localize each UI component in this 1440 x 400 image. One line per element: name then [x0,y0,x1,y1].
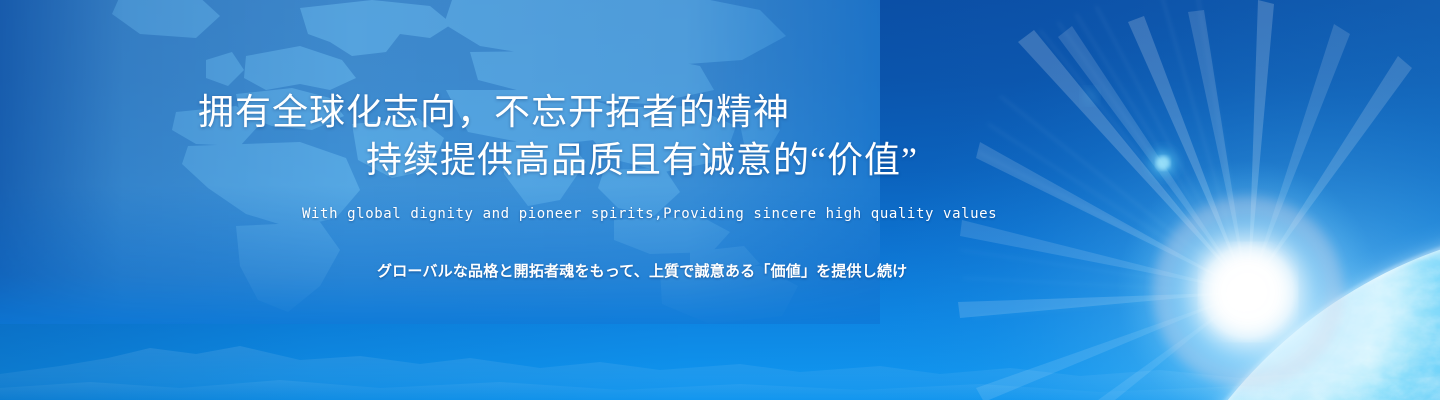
lens-ghost-orb [1145,145,1181,181]
banner-copy: 拥有全球化志向，不忘开拓者的精神 持续提供高品质且有诚意的“价值” With g… [0,0,1100,400]
dotted-world-map [0,0,880,324]
headline-line-2: 持续提供高品质且有诚意的“价值” [198,136,918,184]
headline-line-1: 拥有全球化志向，不忘开拓者的精神 [198,92,790,132]
sun-flare-glow [1116,160,1380,400]
subtitle-english: With global dignity and pioneer spirits,… [302,206,997,222]
planet-graphic [0,0,1440,400]
flare-halo-ring [1152,196,1344,388]
map-fade-horizontal [0,0,880,324]
headline: 拥有全球化志向，不忘开拓者的精神 持续提供高品质且有诚意的“价值” [198,88,918,184]
background-gradient-overlay [0,0,1440,400]
sun-core [1206,250,1290,334]
hero-banner: 拥有全球化志向，不忘开拓者的精神 持续提供高品质且有诚意的“价值” With g… [0,0,1440,400]
mountain-silhouette [0,330,1440,400]
subtitle-japanese: グローバルな品格と開拓者魂をもって、上質で誠意ある「価値」を提供し続け [377,260,907,281]
world-map-dots [0,0,880,324]
map-fade-vertical [0,0,880,324]
earth-limb-svg [0,0,1440,400]
